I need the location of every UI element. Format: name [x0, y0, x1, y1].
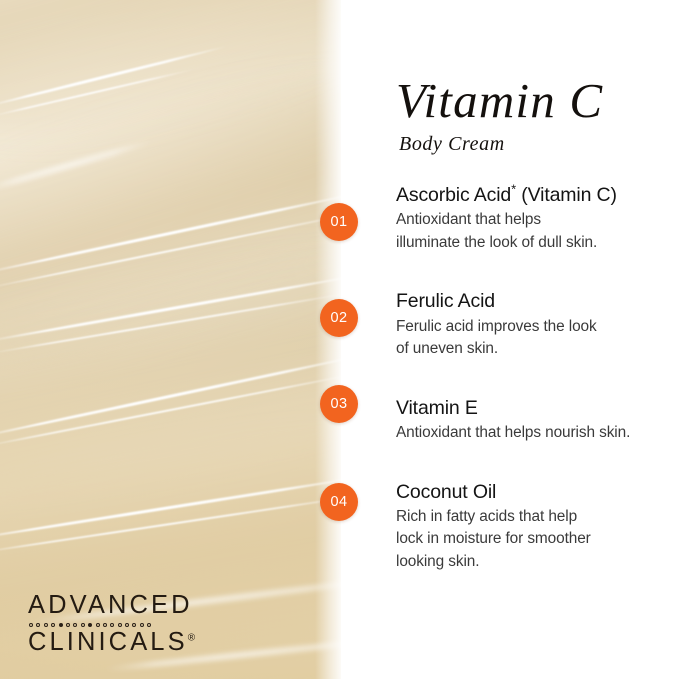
panel-edge-blend	[315, 0, 341, 679]
logo-text-advanced: ADVANCED	[28, 593, 195, 619]
ingredient-description-line: Rich in fatty acids that help	[396, 506, 671, 528]
ingredient-description-line: of uneven skin.	[396, 338, 671, 360]
list-item: Ascorbic Acid* (Vitamin C) Antioxidant t…	[396, 183, 671, 254]
ingredient-description-line: Antioxidant that helps	[396, 209, 671, 231]
cream-texture-image: ADVANCED CLINICALS®	[0, 0, 341, 679]
logo-clinicals-word: CLINICALS	[28, 628, 188, 656]
logo-dot	[125, 623, 129, 627]
info-panel: Vitamin C Body Cream Ascorbic Acid* (Vit…	[341, 0, 679, 679]
logo-dot	[73, 623, 77, 627]
registered-trademark-icon: ®	[188, 632, 195, 643]
logo-dot-filled	[59, 623, 63, 627]
logo-dot	[96, 623, 100, 627]
ingredient-description-line: Antioxidant that helps nourish skin.	[396, 422, 671, 444]
logo-dot	[29, 623, 33, 627]
logo-dot-filled	[88, 623, 92, 627]
product-infographic: ADVANCED CLINICALS®	[0, 0, 679, 679]
ingredient-description-line: illuminate the look of dull skin.	[396, 232, 671, 254]
brand-logo: ADVANCED CLINICALS®	[28, 593, 195, 655]
logo-dot	[36, 623, 40, 627]
ingredient-description: Ferulic acid improves the look of uneven…	[396, 316, 671, 361]
step-badge-01[interactable]: 01	[320, 203, 358, 241]
list-item: Ferulic Acid Ferulic acid improves the l…	[396, 289, 671, 360]
ingredient-description: Antioxidant that helps nourish skin.	[396, 422, 671, 444]
ingredient-description-line: looking skin.	[396, 551, 671, 573]
logo-dot	[81, 623, 85, 627]
step-badge-03[interactable]: 03	[320, 385, 358, 423]
ingredient-list: Ascorbic Acid* (Vitamin C) Antioxidant t…	[396, 183, 671, 573]
logo-dot	[51, 623, 55, 627]
ingredient-description: Rich in fatty acids that help lock in mo…	[396, 506, 671, 573]
step-badge-02[interactable]: 02	[320, 299, 358, 337]
logo-dot	[103, 623, 107, 627]
logo-text-clinicals: CLINICALS®	[28, 630, 195, 656]
ingredient-description: Antioxidant that helps illuminate the lo…	[396, 209, 671, 254]
ingredient-name: Ferulic Acid	[396, 289, 671, 313]
logo-dot	[44, 623, 48, 627]
ingredient-name: Coconut Oil	[396, 480, 671, 504]
product-subtitle: Body Cream	[399, 133, 666, 156]
logo-dot	[66, 623, 70, 627]
list-item: Vitamin E Antioxidant that helps nourish…	[396, 396, 671, 445]
logo-dot	[118, 623, 122, 627]
step-badge-04[interactable]: 04	[320, 483, 358, 521]
list-item: Coconut Oil Rich in fatty acids that hel…	[396, 480, 671, 574]
logo-dot	[110, 623, 114, 627]
page-title: Vitamin C	[396, 76, 666, 126]
ingredient-name-text: Ascorbic Acid	[396, 184, 511, 206]
ingredient-description-line: Ferulic acid improves the look	[396, 316, 671, 338]
title-block: Vitamin C Body Cream	[396, 76, 666, 156]
logo-dot	[140, 623, 144, 627]
logo-dot	[147, 623, 151, 627]
ingredient-description-line: lock in moisture for smoother	[396, 528, 671, 550]
ingredient-name: Ascorbic Acid* (Vitamin C)	[396, 183, 671, 207]
ingredient-name-suffix: (Vitamin C)	[516, 184, 617, 206]
logo-dot	[132, 623, 136, 627]
ingredient-name: Vitamin E	[396, 396, 671, 420]
